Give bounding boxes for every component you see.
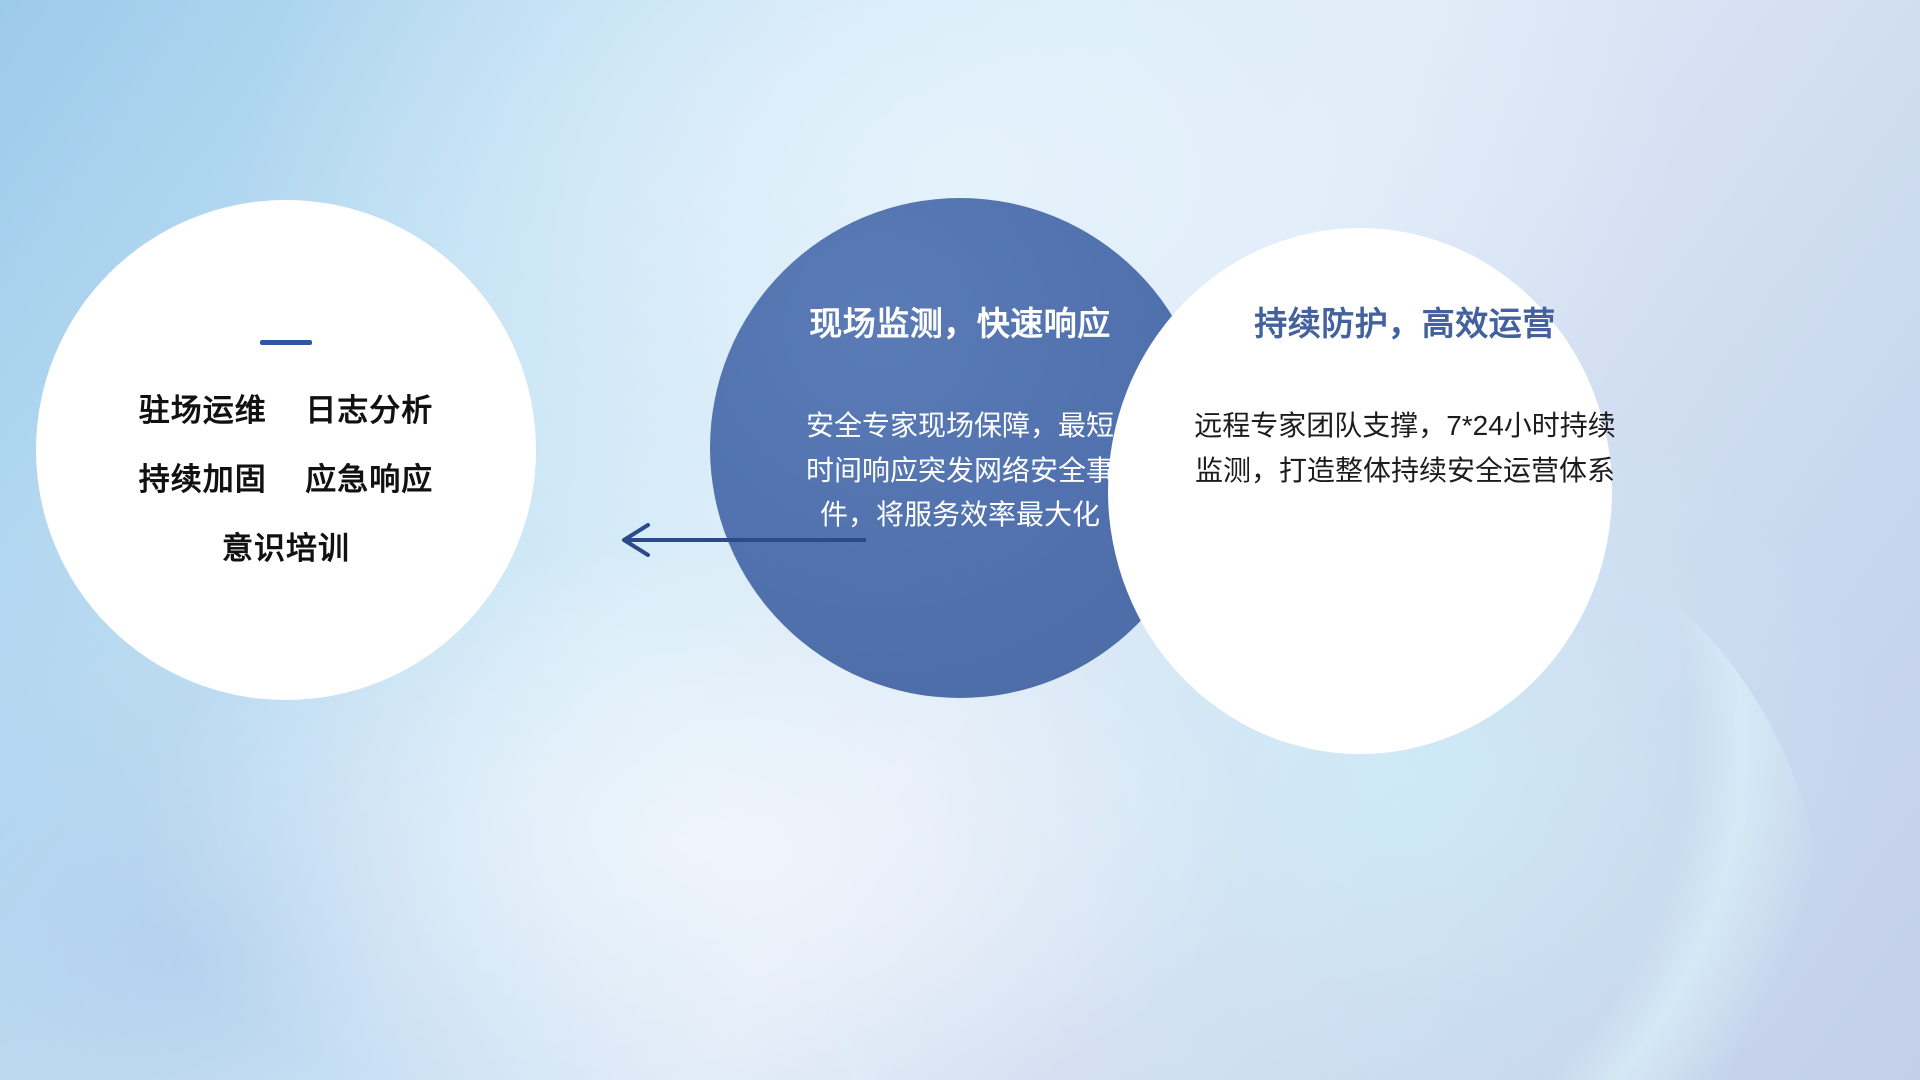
capability-line-3: 意识培训 [222,533,350,564]
right-circle-title: 持续防护，高效运营 [1254,306,1556,342]
arrow-left-icon [604,512,866,568]
left-capability-circle[interactable]: 驻场运维 日志分析 持续加固 应急响应 意识培训 [36,200,536,700]
capability-line-1: 驻场运维 日志分析 [139,395,433,426]
middle-circle-title: 现场监测，快速响应 [809,306,1111,342]
horizontal-dash-icon [260,340,312,345]
capability-line-2: 持续加固 应急响应 [139,464,433,495]
right-circle-content: 持续防护，高效运营 远程专家团队支撑，7*24小时持续监测，打造整体持续安全运营… [1175,306,1635,493]
diagram-canvas: 驻场运维 日志分析 持续加固 应急响应 意识培训 现场监测，快速响应 安全专家现… [0,0,1920,1080]
right-circle-body: 远程专家团队支撑，7*24小时持续监测，打造整体持续安全运营体系 [1190,404,1620,492]
right-continuous-protection-circle[interactable]: 持续防护，高效运营 远程专家团队支撑，7*24小时持续监测，打造整体持续安全运营… [1108,228,1612,754]
